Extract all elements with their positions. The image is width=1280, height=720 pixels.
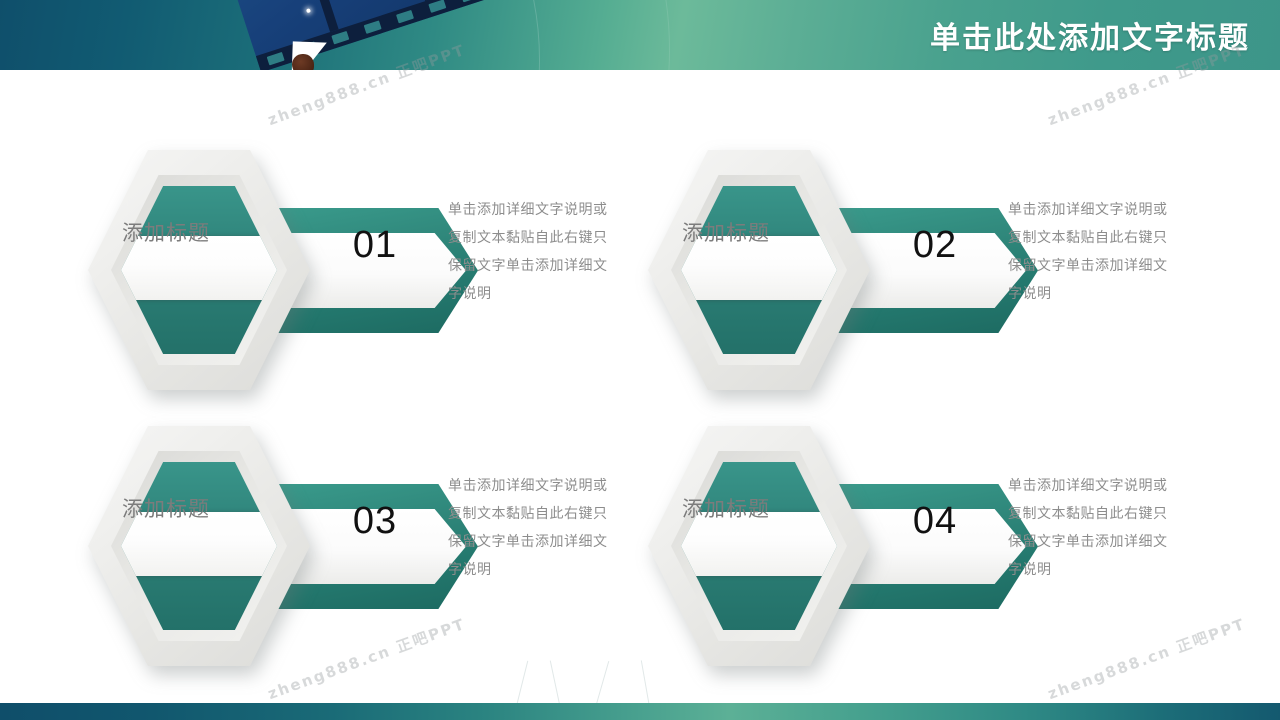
slide-footer xyxy=(0,703,1280,720)
list-item[interactable]: 02 添加标题 单击添加详细文字说明或复制文本黏贴自此右键只保留文字单击添加详细… xyxy=(648,150,1268,390)
hexagon-badge[interactable]: 添加标题 xyxy=(648,426,870,666)
slide-header: 单击此处添加文字标题 xyxy=(0,0,1280,70)
item-description: 单击添加详细文字说明或复制文本黏贴自此右键只保留文字单击添加详细文字说明 xyxy=(448,472,620,584)
portrait-silhouette-icon xyxy=(292,54,314,70)
hexagon-badge[interactable]: 添加标题 xyxy=(88,426,310,666)
item-title: 添加标题 xyxy=(648,200,804,264)
hexagon-badge[interactable]: 添加标题 xyxy=(648,150,870,390)
item-title: 添加标题 xyxy=(88,200,244,264)
item-title: 添加标题 xyxy=(88,476,244,540)
item-description: 单击添加详细文字说明或复制文本黏贴自此右键只保留文字单击添加详细文字说明 xyxy=(1008,472,1180,584)
item-title: 添加标题 xyxy=(648,476,804,540)
list-item[interactable]: 03 添加标题 单击添加详细文字说明或复制文本黏贴自此右键只保留文字单击添加详细… xyxy=(88,426,708,666)
hexagon-badge[interactable]: 添加标题 xyxy=(88,150,310,390)
list-item[interactable]: 04 添加标题 单击添加详细文字说明或复制文本黏贴自此右键只保留文字单击添加详细… xyxy=(648,426,1268,666)
page-title: 单击此处添加文字标题 xyxy=(930,13,1250,57)
item-description: 单击添加详细文字说明或复制文本黏贴自此右键只保留文字单击添加详细文字说明 xyxy=(1008,196,1180,308)
list-item[interactable]: 01 添加标题 单击添加详细文字说明或复制文本黏贴自此右键只保留文字单击添加详细… xyxy=(88,150,708,390)
content-grid: 01 添加标题 单击添加详细文字说明或复制文本黏贴自此右键只保留文字单击添加详细… xyxy=(0,70,1280,703)
item-description: 单击添加详细文字说明或复制文本黏贴自此右键只保留文字单击添加详细文字说明 xyxy=(448,196,620,308)
